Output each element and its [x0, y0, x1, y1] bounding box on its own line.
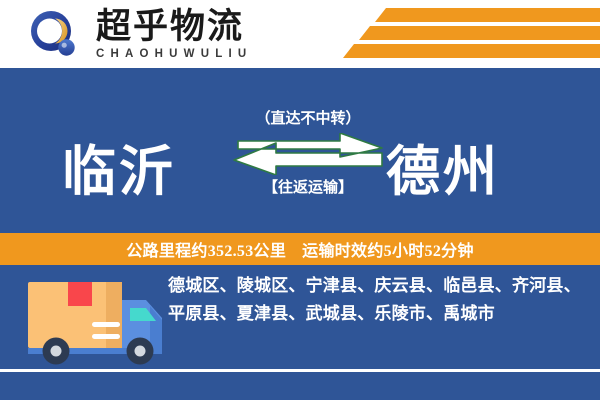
- double-headed-arrow-icon: [232, 133, 384, 175]
- delivery-truck-icon: [20, 276, 168, 372]
- route-section: 临沂 （直达不中转） 【往返运输】 德州: [0, 68, 600, 231]
- round-trip-note: 【往返运输】: [232, 179, 384, 197]
- logistics-route-banner: 超乎物流 CHAOHUWULIU 临沂 （直达不中转） 【往返运输】 德州: [0, 0, 600, 400]
- orange-speed-stripes-icon: [330, 0, 600, 68]
- coverage-line: 平原县、夏津县、武城县、乐陵市、禹城市: [168, 300, 586, 328]
- destination-city: 德州: [386, 145, 500, 199]
- ground-divider: [0, 369, 600, 372]
- brand-text: 超乎物流 CHAOHUWULIU: [96, 8, 252, 62]
- direct-service-note: （直达不中转）: [232, 110, 384, 128]
- header: 超乎物流 CHAOHUWULIU: [0, 0, 600, 68]
- route-middle: （直达不中转） 【往返运输】: [232, 110, 384, 197]
- duration-label: 运输时效约5小时52分钟: [302, 237, 474, 261]
- distance-label: 公路里程约352.53公里: [126, 237, 286, 261]
- coverage-area-list: 德城区、陵城区、宁津县、庆云县、临邑县、齐河县、 平原县、夏津县、武城县、乐陵市…: [168, 272, 586, 328]
- brand-name-en: CHAOHUWULIU: [96, 47, 252, 62]
- origin-city: 临沂: [62, 145, 176, 199]
- company-logo-icon: [28, 9, 80, 61]
- brand-name-cn: 超乎物流: [96, 8, 252, 46]
- route-info-bar: 公路里程约352.53公里 运输时效约5小时52分钟: [0, 233, 600, 265]
- coverage-line: 德城区、陵城区、宁津县、庆云县、临邑县、齐河县、: [168, 272, 586, 300]
